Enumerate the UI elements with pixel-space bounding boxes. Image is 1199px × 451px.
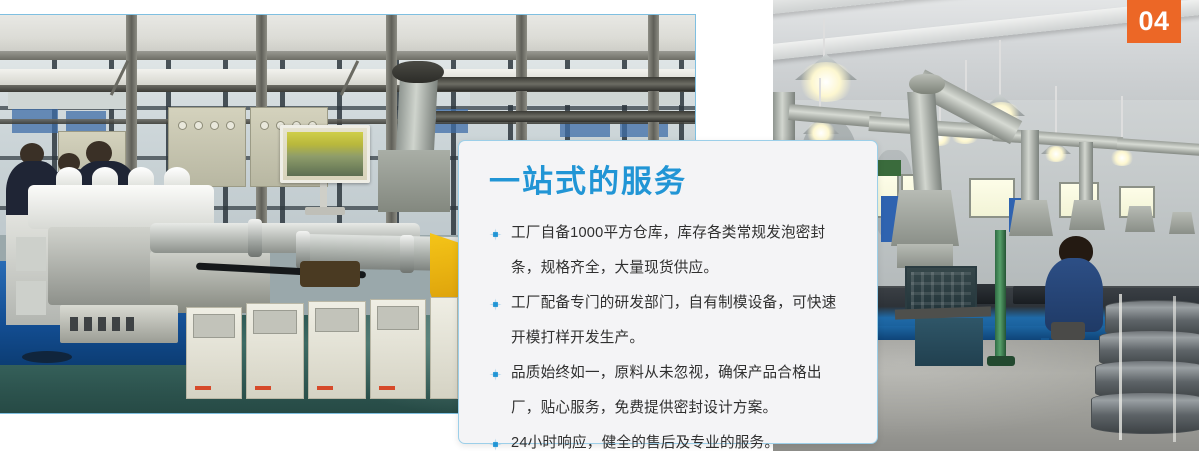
pole-base (987, 356, 1015, 366)
diamond-bullet-icon (489, 438, 502, 451)
screen-post (320, 183, 327, 209)
service-bullet-text: 工厂自备1000平方仓库，库存各类常规发泡密封条，规格齐全，大量现货供应。 (511, 225, 825, 276)
service-bullet-item: 品质始终如一，原料从未忽视，确保产品合格出厂，贴心服务，免费提供密封设计方案。 (489, 356, 851, 426)
duct-vertical (1021, 130, 1039, 204)
duct-hood (1009, 200, 1053, 236)
lamp-glow (1043, 146, 1069, 162)
barrel-flange (400, 235, 414, 273)
control-unit (186, 307, 242, 399)
duct-hood (1069, 200, 1105, 230)
control-unit (430, 297, 458, 399)
stool (1051, 322, 1085, 340)
diamond-bullet-icon (489, 298, 502, 311)
duct-hood (891, 190, 959, 246)
controller-keys (70, 317, 78, 331)
material-coil (1091, 392, 1199, 434)
storage-crate (915, 318, 983, 366)
service-bullet-text: 24小时响应，健全的售后及专业的服务。 (511, 435, 779, 451)
service-bullet-item: 工厂自备1000平方仓库，库存各类常规发泡密封条，规格齐全，大量现货供应。 (489, 216, 851, 286)
duct-hood-neck (897, 244, 953, 268)
service-bullet-item: 24小时响应，健全的售后及专业的服务。 (489, 426, 851, 451)
lamp-glow (1109, 150, 1135, 166)
ceiling-beam (0, 51, 696, 60)
lamp-cord (823, 18, 825, 60)
service-bullet-list: 工厂自备1000平方仓库，库存各类常规发泡密封条，规格齐全，大量现货供应。 工厂… (489, 216, 851, 451)
lamp-cord (999, 40, 1001, 98)
operator-display (280, 125, 370, 183)
coil-strap (1119, 294, 1122, 440)
control-unit (308, 301, 366, 399)
duct-hood (1125, 206, 1155, 232)
support-pole-green (995, 230, 1006, 366)
coil-strap (1173, 296, 1176, 442)
machine-slot (22, 351, 72, 363)
duct-elbow (392, 61, 444, 83)
duct-horizontal (436, 111, 696, 122)
machine-block (1013, 286, 1049, 304)
lamp-glow (797, 62, 855, 102)
duct-elbow (909, 74, 945, 94)
service-bullet-item: 工厂配备专门的研发部门，自有制模设备，可快速开模打样开发生产。 (489, 286, 851, 356)
service-bullet-text: 工厂配备专门的研发部门，自有制模设备，可快速开模打样开发生产。 (511, 295, 836, 346)
duct-vertical (1079, 142, 1093, 206)
screen-base (305, 207, 345, 215)
diamond-bullet-icon (489, 368, 502, 381)
service-bullet-text: 品质始终如一，原料从未忽视，确保产品合格出厂，贴心服务，免费提供密封设计方案。 (511, 365, 822, 416)
barrel-flange (248, 219, 262, 257)
control-unit (246, 303, 304, 399)
control-unit (370, 299, 426, 399)
page-root: 04 一站式的服务 工厂自备1000平方仓库，库存各类常规发泡密封条，规格齐全，… (0, 0, 1199, 451)
step-number-badge: 04 (1127, 0, 1181, 43)
card-title: 一站式的服务 (489, 165, 851, 199)
duct-hood (1169, 212, 1195, 234)
duct-hood (378, 150, 450, 212)
service-info-card: 一站式的服务 工厂自备1000平方仓库，库存各类常规发泡密封条，规格齐全，大量现… (458, 140, 878, 444)
diamond-bullet-icon (489, 228, 502, 241)
step-number-text: 04 (1138, 8, 1169, 35)
worker-seated (1045, 258, 1103, 332)
heater-band (300, 261, 360, 287)
duct-horizontal (436, 77, 696, 91)
